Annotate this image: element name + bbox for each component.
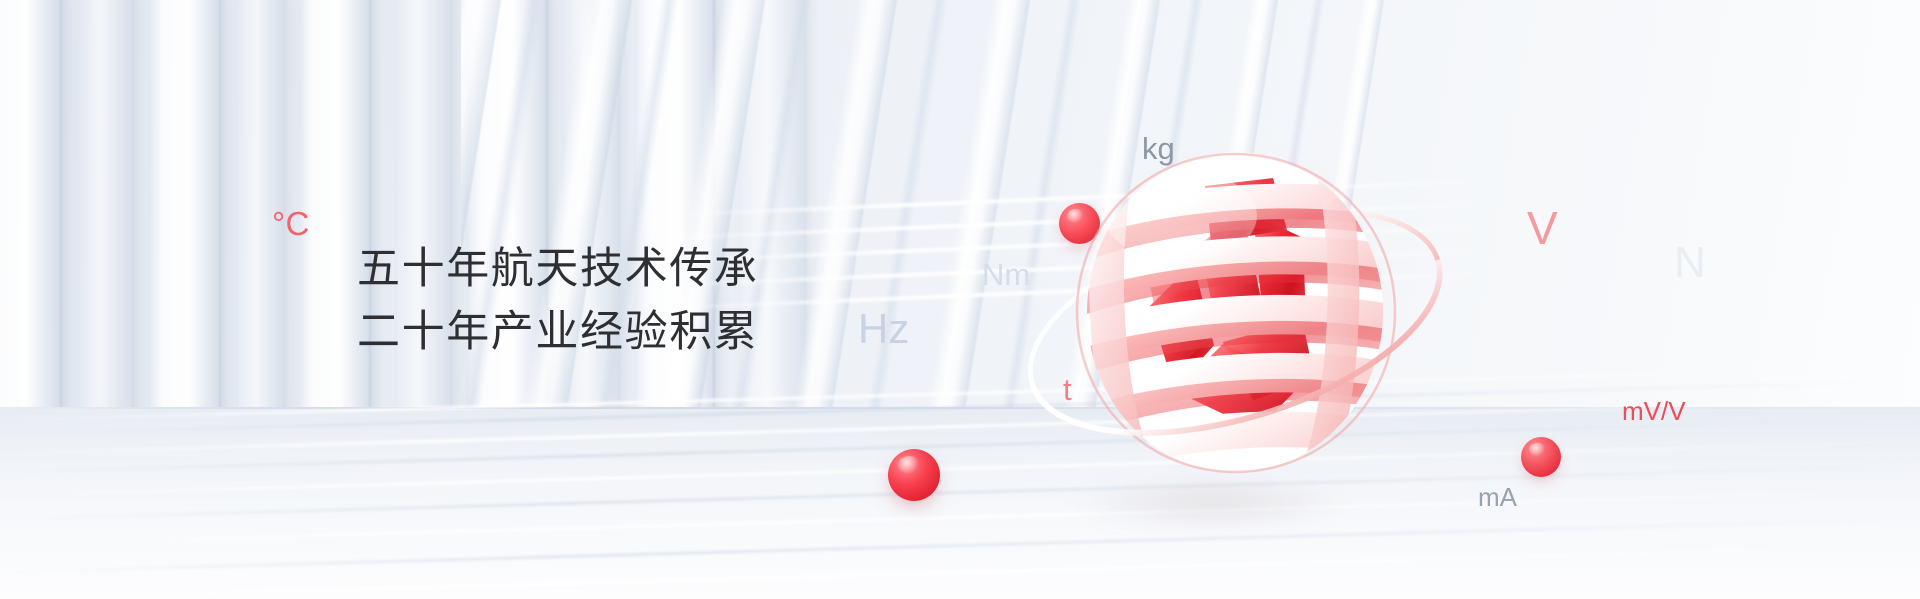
headline: 五十年航天技术传承 二十年产业经验积累: [357, 238, 917, 364]
headline-line-1: 五十年航天技术传承: [357, 238, 917, 301]
banded-sphere-logo: [1005, 90, 1465, 530]
decorative-sphere-small-right: [1521, 437, 1561, 477]
unit-label-volt: V: [1527, 201, 1558, 255]
background-scene: [0, 0, 1920, 599]
floor-reflections: [0, 323, 1920, 599]
headline-line-2: 二十年产业经验积累: [357, 301, 917, 364]
unit-label-newton: N: [1674, 238, 1706, 288]
unit-label-celsius: °C: [272, 205, 310, 243]
unit-label-millivolt-per-volt: mV/V: [1622, 396, 1686, 427]
decorative-sphere-large-bottom-left: [888, 449, 940, 501]
logo-ball: [1047, 126, 1427, 502]
unit-label-milliampere: mA: [1478, 482, 1517, 513]
hero-banner: 五十年航天技术传承 二十年产业经验积累 °C Hz Nm kg t V N mV…: [0, 0, 1920, 599]
unit-label-hertz: Hz: [858, 305, 909, 353]
logo-graphic: [1005, 90, 1465, 530]
